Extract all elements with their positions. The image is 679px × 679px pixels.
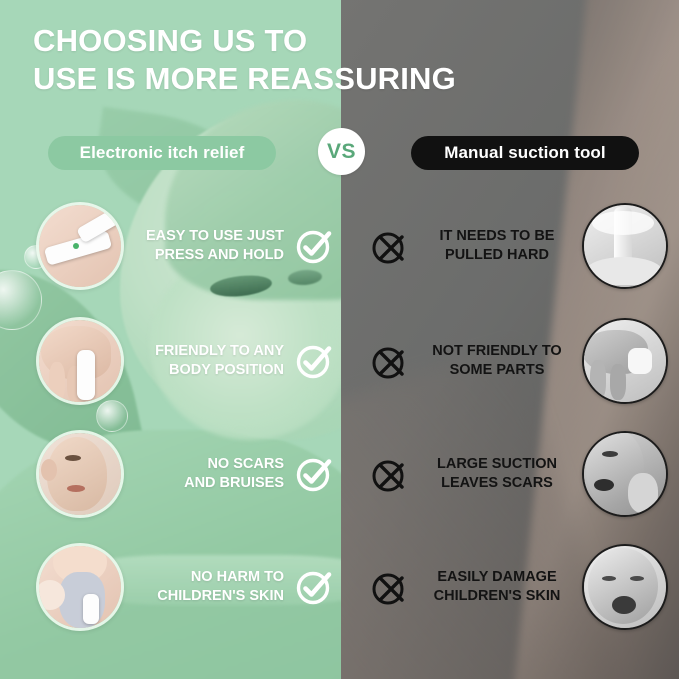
left-feature-row-1: EASY TO USE JUST PRESS AND HOLD [36,200,336,292]
x-circle-icon [368,339,412,383]
suction-tool-photo [582,203,668,289]
x-circle-icon [368,224,412,268]
right-feature-row-3: LARGE SUCTION LEAVES SCARS [368,428,668,520]
left-feature-label-3: NO SCARS AND BRUISES [124,455,284,492]
comparison-infographic: CHOOSING US TO USE IS MORE REASSURING El… [0,0,679,679]
check-circle-icon [292,565,336,609]
right-feature-row-2: NOT FRIENDLY TO SOME PARTS [368,315,668,407]
left-feature-row-2: FRIENDLY TO ANY BODY POSITION [36,315,336,407]
x-circle-icon [368,452,412,496]
left-feature-label-1: EASY TO USE JUST PRESS AND HOLD [124,227,284,264]
scarred-face-photo [582,431,668,517]
right-feature-row-1: IT NEEDS TO BE PULLED HARD [368,200,668,292]
right-feature-label-3: LARGE SUCTION LEAVES SCARS [412,455,582,492]
vs-badge: VS [318,128,365,175]
left-feature-label-4: NO HARM TO CHILDREN'S SKIN [124,568,284,605]
left-feature-row-4: NO HARM TO CHILDREN'S SKIN [36,541,336,633]
right-column-badge: Manual suction tool [411,136,639,170]
check-circle-icon [292,339,336,383]
page-title: CHOOSING US TO USE IS MORE REASSURING [33,22,653,99]
left-feature-label-2: FRIENDLY TO ANY BODY POSITION [124,342,284,379]
right-feature-row-4: EASILY DAMAGE CHILDREN'S SKIN [368,541,668,633]
left-feature-row-3: NO SCARS AND BRUISES [36,428,336,520]
clear-face-photo [36,430,124,518]
right-feature-label-4: EASILY DAMAGE CHILDREN'S SKIN [412,568,582,605]
baby-arm-photo [36,543,124,631]
left-column-badge: Electronic itch relief [48,136,276,170]
check-circle-icon [292,452,336,496]
tool-on-hand-photo [582,318,668,404]
crying-baby-photo [582,544,668,630]
x-circle-icon [368,565,412,609]
check-circle-icon [292,224,336,268]
right-feature-label-1: IT NEEDS TO BE PULLED HARD [412,227,582,264]
right-feature-label-2: NOT FRIENDLY TO SOME PARTS [412,342,582,379]
device-on-arm-photo [36,202,124,290]
device-on-hand-photo [36,317,124,405]
